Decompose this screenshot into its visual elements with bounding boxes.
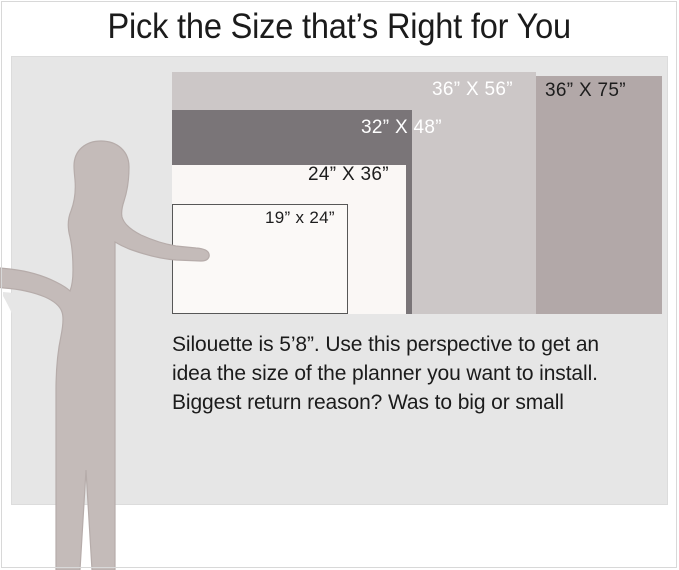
description-line-1: Silouette is 5’8”. Use this perspective …: [172, 330, 662, 359]
title-bar: Pick the Size that’s Right for You: [0, 0, 679, 53]
description-text: Silouette is 5’8”. Use this perspective …: [172, 330, 662, 417]
size-label-32x48: 32” X 48”: [361, 117, 442, 139]
page-title: Pick the Size that’s Right for You: [108, 7, 572, 47]
size-label-19x24: 19” x 24”: [265, 207, 335, 229]
size-rect-36x75: [536, 76, 662, 314]
size-label-36x75: 36” X 75”: [545, 80, 626, 102]
size-label-36x56: 36” X 56”: [432, 79, 513, 101]
description-line-2: idea the size of the planner you want to…: [172, 359, 662, 388]
poster-root: Pick the Size that’s Right for You 36” X…: [0, 0, 679, 570]
description-line-3: Biggest return reason? Was to big or sma…: [172, 388, 662, 417]
size-label-24x36: 24” X 36”: [308, 164, 389, 186]
